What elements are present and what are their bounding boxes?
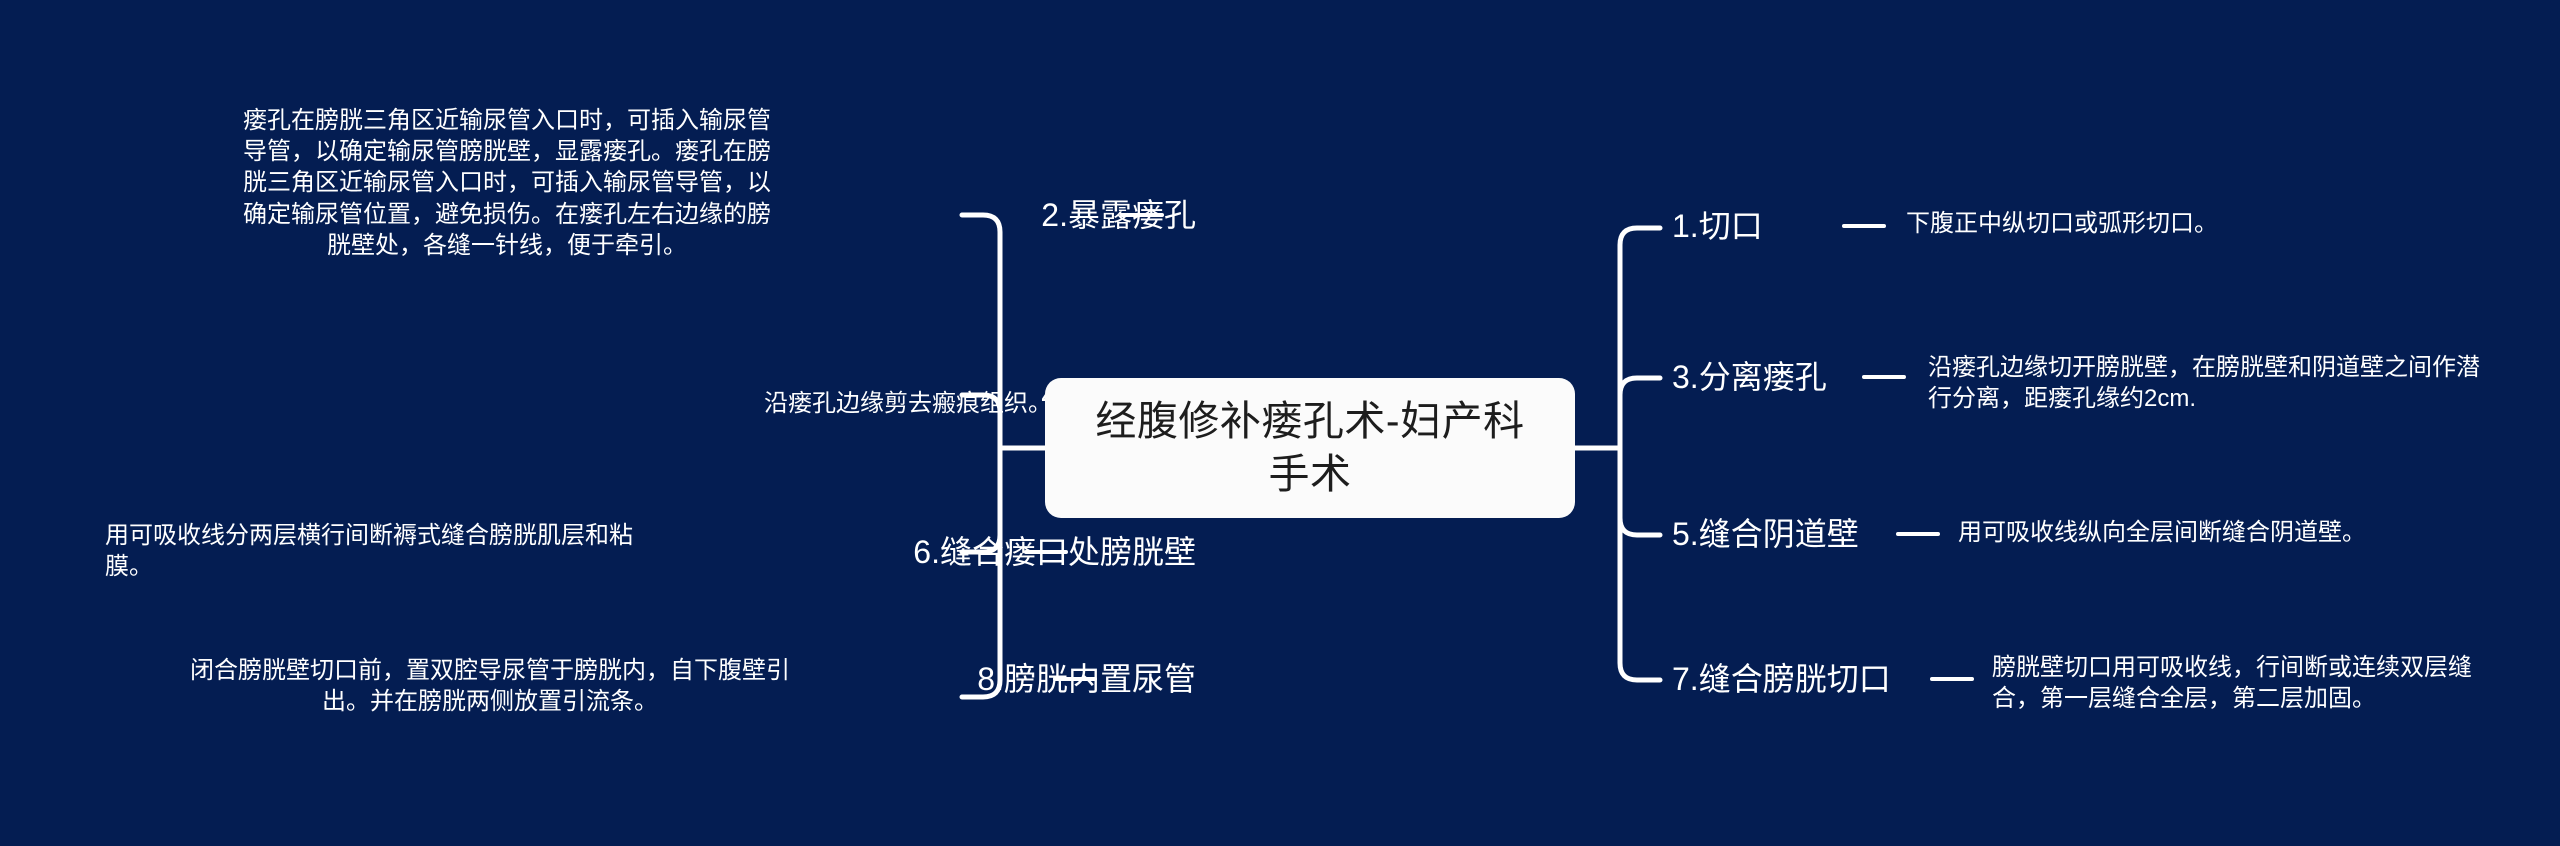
branch-label-right-1[interactable]: 1.切口: [1672, 207, 1763, 246]
branch-desc-right-1: 下腹正中纵切口或弧形切口。: [1906, 208, 2506, 239]
branch-dash-left-6: [1024, 550, 1068, 554]
branch-desc-left-2: 瘘孔在膀胱三角区近输尿管入口时，可插入输尿管导管，以确定输尿管膀胱壁，显露瘘孔。…: [232, 105, 782, 261]
branch-dash-right-5: [1896, 532, 1940, 536]
branch-dash-left-2: [1120, 213, 1164, 217]
branch-desc-right-5: 用可吸收线纵向全层间断缝合阴道壁。: [1958, 517, 2518, 548]
center-node[interactable]: 经腹修补瘘孔术-妇产科手术: [1045, 378, 1575, 518]
branch-desc-left-6: 用可吸收线分两层横行间断褥式缝合膀胱肌层和粘膜。: [105, 520, 665, 582]
branch-label-right-3[interactable]: 3.分离瘘孔: [1672, 358, 1827, 397]
branch-desc-left-4: 沿瘘孔边缘剪去瘢痕组织。: [452, 388, 1052, 419]
branch-dash-left-8: [1053, 677, 1097, 681]
branch-label-right-5[interactable]: 5.缝合阴道壁: [1672, 515, 1859, 554]
branch-dash-right-7: [1930, 677, 1974, 681]
branch-label-right-7[interactable]: 7.缝合膀胱切口: [1672, 660, 1891, 699]
center-node-title: 经腹修补瘘孔术-妇产科手术: [1079, 395, 1541, 502]
mindmap-canvas: 经腹修补瘘孔术-妇产科手术 1.切口 下腹正中纵切口或弧形切口。 3.分离瘘孔 …: [0, 0, 2560, 846]
trunk-right-7: [1620, 448, 1660, 680]
branch-desc-right-7: 膀胱壁切口用可吸收线，行间断或连续双层缝合，第一层缝合全层，第二层加固。: [1992, 652, 2492, 714]
trunk-right-3: [1620, 378, 1660, 448]
branch-label-left-2[interactable]: 2.暴露瘘孔: [1041, 196, 1196, 235]
trunk-right-5: [1620, 448, 1660, 535]
branch-desc-right-3: 沿瘘孔边缘切开膀胱壁，在膀胱壁和阴道壁之间作潜行分离，距瘘孔缘约2cm.: [1928, 352, 2480, 414]
branch-desc-left-8: 闭合膀胱壁切口前，置双腔导尿管于膀胱内，自下腹壁引出。并在膀胱两侧放置引流条。: [180, 655, 800, 717]
branch-dash-right-3: [1862, 375, 1906, 379]
branch-dash-right-1: [1842, 224, 1886, 228]
trunk-right-1: [1620, 228, 1660, 448]
